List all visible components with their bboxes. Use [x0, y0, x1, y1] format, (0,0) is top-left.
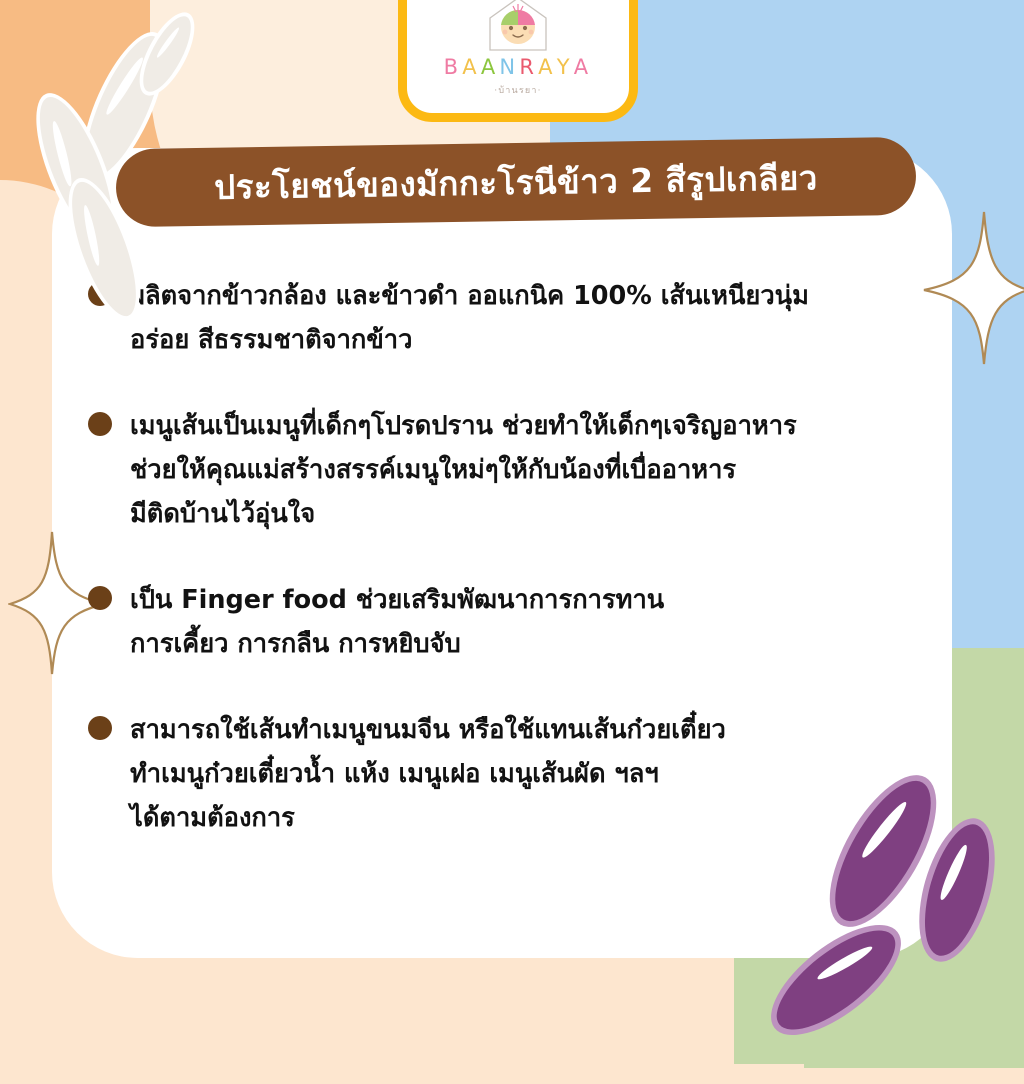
- benefit-line: เป็น Finger food ช่วยเสริมพัฒนาการการทาน: [130, 578, 968, 622]
- brand-subtitle: ·บ้านรยา·: [494, 83, 541, 97]
- benefit-item: เป็น Finger food ช่วยเสริมพัฒนาการการทาน…: [88, 578, 968, 666]
- bullet-dot-icon: [88, 412, 112, 436]
- benefit-item: สามารถใช้เส้นทำเมนูขนมจีน หรือใช้แทนเส้น…: [88, 708, 968, 840]
- bullet-dot-icon: [88, 586, 112, 610]
- benefit-line: สามารถใช้เส้นทำเมนูขนมจีน หรือใช้แทนเส้น…: [130, 708, 968, 752]
- benefit-text-block: เมนูเส้นเป็นเมนูที่เด็กๆโปรดปราน ช่วยทำใ…: [130, 404, 968, 536]
- bullet-dot-icon: [88, 716, 112, 740]
- benefit-line: การเคี้ยว การกลืน การหยิบจับ: [130, 622, 968, 666]
- benefit-text-block: เป็น Finger food ช่วยเสริมพัฒนาการการทาน…: [130, 578, 968, 666]
- benefit-item: ผลิตจากข้าวกล้อง และข้าวดำ ออแกนิค 100% …: [88, 274, 968, 362]
- page-title: ประโยชน์ของมักกะโรนีข้าว 2 สีรูปเกลียว: [214, 161, 818, 203]
- benefit-line: ได้ตามต้องการ: [130, 796, 968, 840]
- house-child-face-logo-icon: [486, 0, 550, 54]
- benefit-text-block: ผลิตจากข้าวกล้อง และข้าวดำ ออแกนิค 100% …: [130, 274, 968, 362]
- wordmark-letter-1: A: [462, 57, 481, 78]
- benefit-line: ผลิตจากข้าวกล้อง และข้าวดำ ออแกนิค 100% …: [130, 274, 968, 318]
- benefit-line: ช่วยให้คุณแม่สร้างสรรค์เมนูใหม่ๆให้กับน้…: [130, 448, 968, 492]
- wordmark-letter-3: N: [499, 57, 519, 78]
- title-banner: ประโยชน์ของมักกะโรนีข้าว 2 สีรูปเกลียว: [115, 137, 916, 228]
- wordmark-letter-0: B: [444, 57, 463, 78]
- wordmark-letter-2: A: [481, 57, 500, 78]
- brand-wordmark: BAANRAYA: [444, 57, 593, 78]
- benefit-text-block: สามารถใช้เส้นทำเมนูขนมจีน หรือใช้แทนเส้น…: [130, 708, 968, 840]
- wordmark-letter-4: R: [519, 57, 538, 78]
- benefit-line: เมนูเส้นเป็นเมนูที่เด็กๆโปรดปราน ช่วยทำใ…: [130, 404, 968, 448]
- benefits-list: ผลิตจากข้าวกล้อง และข้าวดำ ออแกนิค 100% …: [88, 274, 968, 882]
- benefit-line: อร่อย สีธรรมชาติจากข้าว: [130, 318, 968, 362]
- benefit-line: มีติดบ้านไว้อุ่นใจ: [130, 492, 968, 536]
- wordmark-letter-5: A: [538, 57, 557, 78]
- benefit-item: เมนูเส้นเป็นเมนูที่เด็กๆโปรดปราน ช่วยทำใ…: [88, 404, 968, 536]
- wordmark-letter-7: A: [574, 57, 593, 78]
- benefit-line: ทำเมนูก๋วยเตี๋ยวน้ำ แห้ง เมนูเฝอ เมนูเส้…: [130, 752, 968, 796]
- brand-logo-badge[interactable]: BAANRAYA ·บ้านรยา·: [398, 0, 638, 122]
- wordmark-letter-6: Y: [557, 57, 574, 78]
